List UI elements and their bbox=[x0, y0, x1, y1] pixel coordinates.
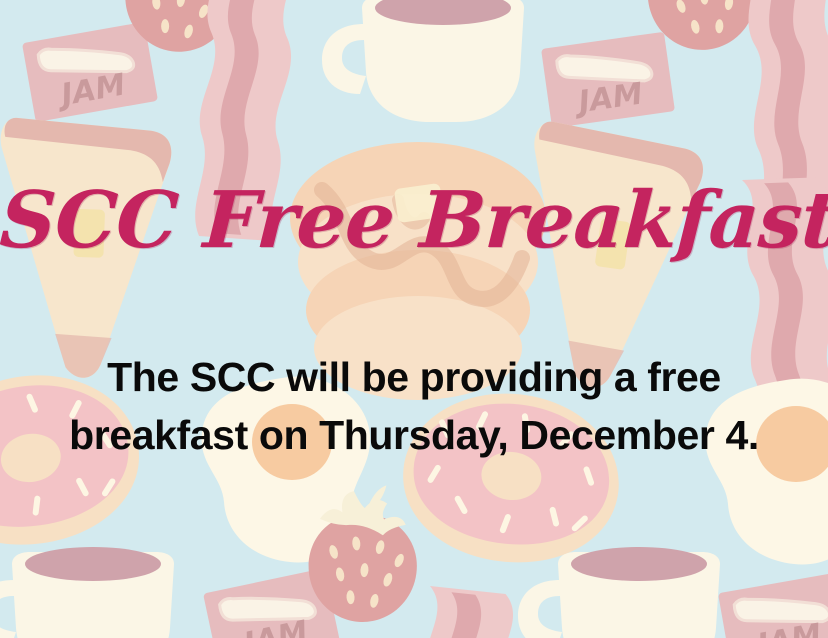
breakfast-poster: JAM bbox=[0, 0, 828, 638]
page-title: SCC Free Breakfast bbox=[0, 182, 828, 260]
poster-text-content: SCC Free Breakfast The SCC will be provi… bbox=[0, 0, 828, 638]
poster-subtitle: The SCC will be providing a free breakfa… bbox=[44, 348, 784, 464]
